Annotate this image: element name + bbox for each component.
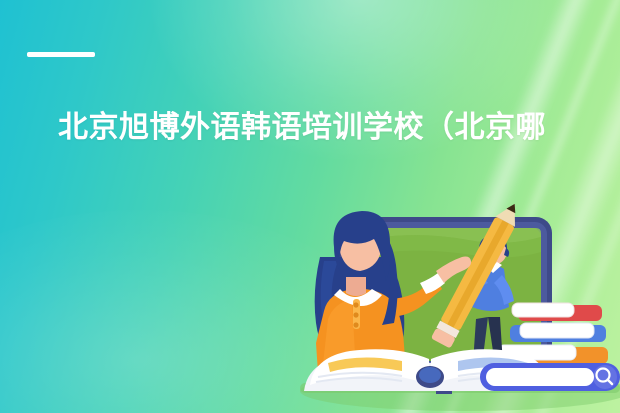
page-title: 北京旭博外语韩语培训学校（北京哪 [58, 106, 563, 150]
education-illustration [290, 195, 620, 413]
accent-rule [27, 52, 95, 57]
promo-banner: 北京旭博外语韩语培训学校（北京哪 [0, 0, 620, 413]
search-bar[interactable] [480, 363, 620, 391]
illustration-svg [290, 195, 620, 413]
